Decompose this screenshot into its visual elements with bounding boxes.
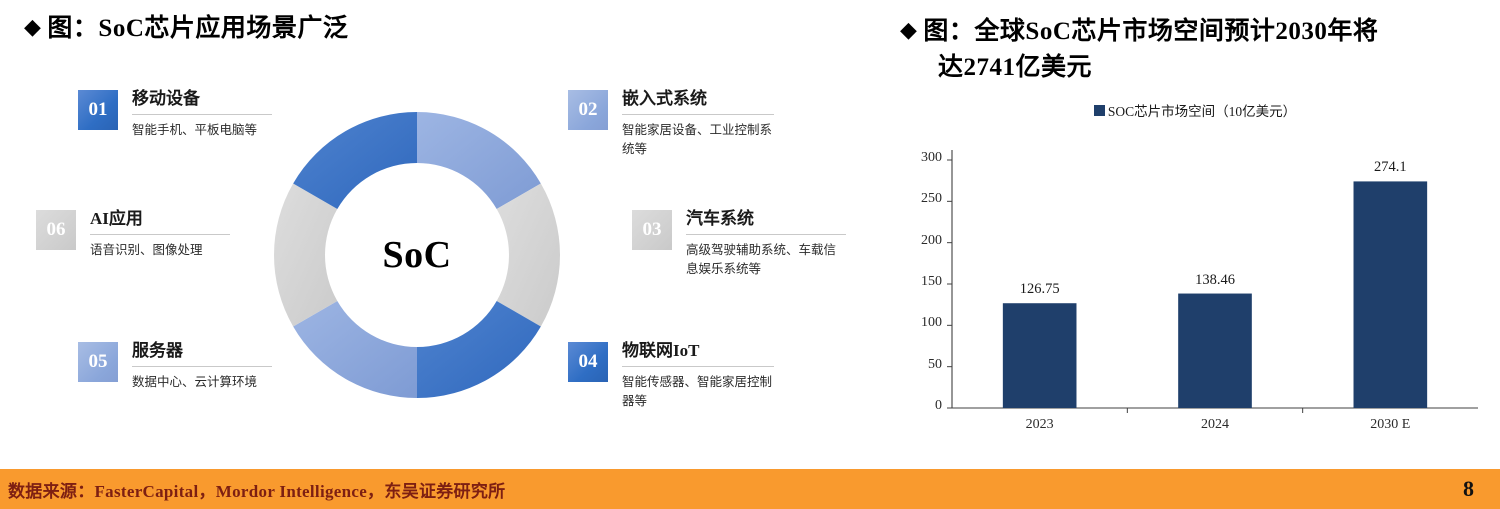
item-number-badge: 04 — [568, 342, 608, 382]
item-description: 高级驾驶辅助系统、车载信息娱乐系统等 — [686, 241, 846, 280]
donut-chart: SoC — [268, 106, 566, 404]
diagram-item-06[interactable]: 06 AI应用 语音识别、图像处理 — [36, 210, 230, 260]
item-text: 嵌入式系统 智能家居设备、工业控制系统等 — [622, 90, 774, 159]
y-axis-label: 150 — [900, 274, 942, 290]
item-title: 汽车系统 — [686, 210, 846, 229]
item-title: 嵌入式系统 — [622, 90, 774, 109]
x-axis-label: 2023 — [990, 417, 1090, 433]
x-axis-label: 2030 E — [1340, 417, 1440, 433]
item-number-badge: 01 — [78, 90, 118, 130]
y-axis-label: 100 — [900, 315, 942, 331]
item-text: 物联网IoT 智能传感器、智能家居控制器等 — [622, 342, 774, 411]
y-axis-label: 200 — [900, 233, 942, 249]
bar[interactable] — [1003, 303, 1077, 408]
right-title-line1: 图：全球SoC芯片市场空间预计2030年将 — [923, 18, 1378, 45]
item-number-badge: 06 — [36, 210, 76, 250]
legend-label: SOC芯片市场空间（10亿美元） — [1108, 100, 1296, 120]
diagram-item-04[interactable]: 04 物联网IoT 智能传感器、智能家居控制器等 — [568, 342, 774, 411]
legend-swatch-icon — [1094, 105, 1105, 116]
left-title-text: 图：SoC芯片应用场景广泛 — [47, 15, 348, 42]
item-text: 汽车系统 高级驾驶辅助系统、车载信息娱乐系统等 — [686, 210, 846, 279]
diagram-item-02[interactable]: 02 嵌入式系统 智能家居设备、工业控制系统等 — [568, 90, 774, 159]
footer-bar: 数据来源：FasterCapital，Mordor Intelligence，东… — [0, 469, 1500, 509]
item-divider — [132, 114, 272, 115]
bar-value-label: 274.1 — [1340, 159, 1440, 176]
diagram-item-01[interactable]: 01 移动设备 智能手机、平板电脑等 — [78, 90, 272, 140]
item-description: 智能家居设备、工业控制系统等 — [622, 121, 774, 160]
item-text: 服务器 数据中心、云计算环境 — [132, 342, 272, 392]
bar-value-label: 138.46 — [1165, 272, 1265, 289]
bar-value-label: 126.75 — [990, 281, 1090, 298]
y-axis-label: 300 — [900, 150, 942, 166]
diagram-item-03[interactable]: 03 汽车系统 高级驾驶辅助系统、车载信息娱乐系统等 — [632, 210, 846, 279]
bar[interactable] — [1178, 294, 1252, 408]
item-number-badge: 02 — [568, 90, 608, 130]
x-axis-label: 2024 — [1165, 417, 1265, 433]
item-divider — [622, 366, 774, 367]
y-axis-label: 50 — [900, 357, 942, 373]
item-divider — [686, 234, 846, 235]
item-title: 移动设备 — [132, 90, 272, 109]
soc-market-bar-chart: SOC芯片市场空间（10亿美元） 05010015020025030020231… — [900, 100, 1490, 448]
y-axis-label: 250 — [900, 191, 942, 207]
item-number-badge: 05 — [78, 342, 118, 382]
soc-application-diagram: SoC 01 移动设备 智能手机、平板电脑等 06 AI应用 语音识别、图像处理… — [0, 62, 880, 452]
bullet-diamond-icon: ◆ — [24, 14, 41, 39]
slide-page: ◆图：SoC芯片应用场景广泛 ◆图：全球SoC芯片市场空间预计2030年将 达2… — [0, 0, 1500, 509]
item-divider — [90, 234, 230, 235]
chart-legend: SOC芯片市场空间（10亿美元） — [900, 100, 1490, 120]
right-title-line2: 达2741亿美元 — [938, 50, 1490, 86]
donut-center-label: SoC — [268, 106, 566, 404]
item-title: 服务器 — [132, 342, 272, 361]
item-description: 智能手机、平板电脑等 — [132, 121, 272, 140]
item-description: 语音识别、图像处理 — [90, 241, 230, 260]
item-divider — [132, 366, 272, 367]
chart-plot-area: 0501001502002503002023126.752024138.4620… — [900, 142, 1490, 448]
item-text: 移动设备 智能手机、平板电脑等 — [132, 90, 272, 140]
item-title: 物联网IoT — [622, 342, 774, 361]
right-page-title: ◆图：全球SoC芯片市场空间预计2030年将 达2741亿美元 — [900, 14, 1490, 87]
item-number-badge: 03 — [632, 210, 672, 250]
item-description: 数据中心、云计算环境 — [132, 373, 272, 392]
diagram-item-05[interactable]: 05 服务器 数据中心、云计算环境 — [78, 342, 272, 392]
bullet-diamond-icon: ◆ — [900, 17, 917, 42]
item-title: AI应用 — [90, 210, 230, 229]
item-divider — [622, 114, 774, 115]
bar-chart-svg — [900, 142, 1490, 448]
bar[interactable] — [1354, 181, 1428, 408]
data-source-text: 数据来源：FasterCapital，Mordor Intelligence，东… — [8, 477, 505, 502]
y-axis-label: 0 — [900, 398, 942, 414]
page-number: 8 — [1463, 476, 1474, 502]
left-page-title: ◆图：SoC芯片应用场景广泛 — [24, 8, 348, 44]
item-description: 智能传感器、智能家居控制器等 — [622, 373, 774, 412]
item-text: AI应用 语音识别、图像处理 — [90, 210, 230, 260]
